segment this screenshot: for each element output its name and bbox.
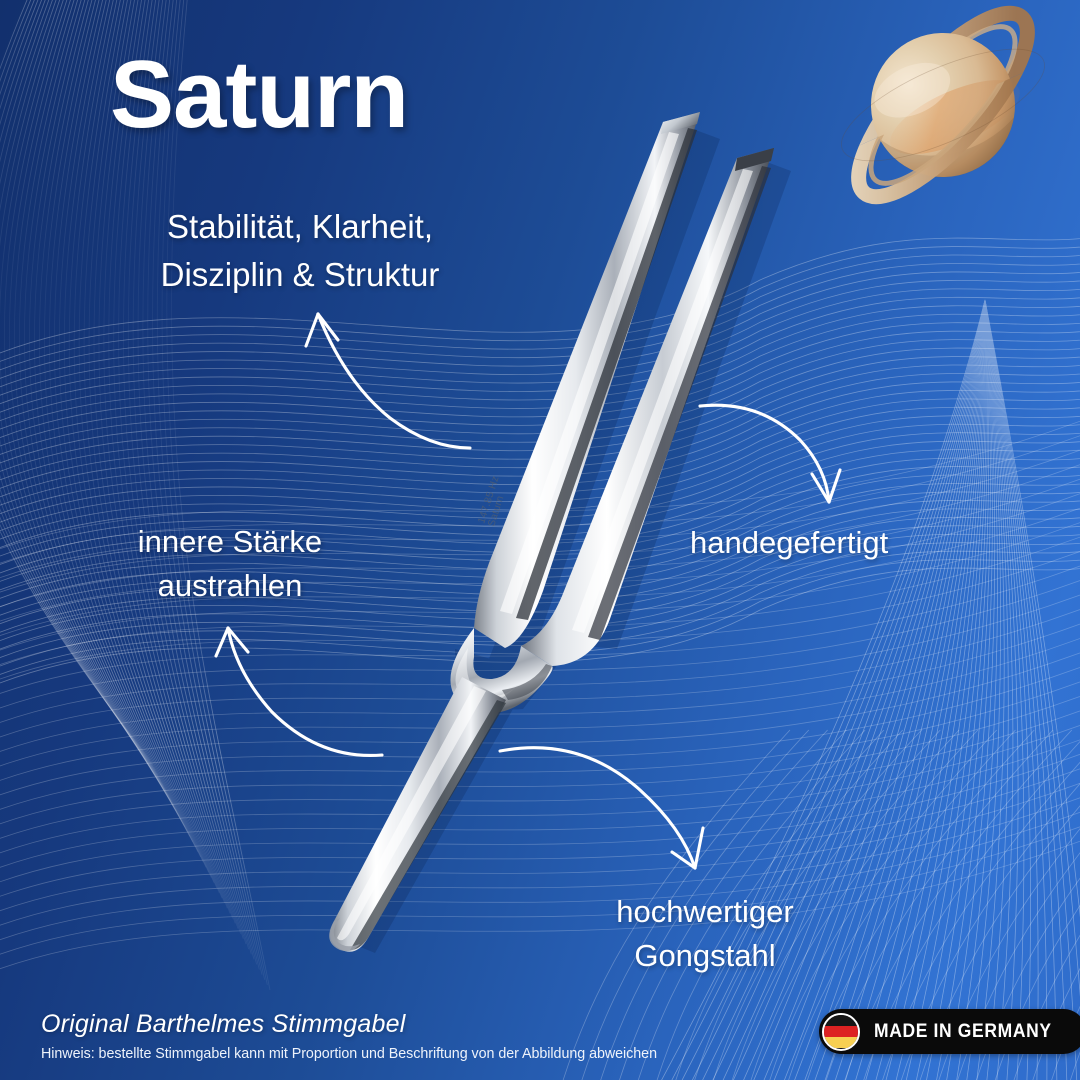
fork-tine-left (474, 112, 700, 648)
brand-line: Original Barthelmes Stimmgabel (41, 1010, 405, 1039)
made-in-germany-label: MADE IN GERMANY (874, 1021, 1052, 1043)
arrow-to-inner-strength (216, 628, 382, 755)
disclaimer-note: Hinweis: bestellte Stimmgabel kann mit P… (41, 1046, 657, 1062)
callout-gong-steel-line-2: Gongstahl (560, 934, 850, 978)
arrow-to-subtitle (306, 314, 470, 448)
subtitle-line-1: Stabilität, Klarheit, (60, 203, 540, 251)
page-title: Saturn (110, 47, 408, 143)
callout-inner-strength-line-1: innere Stärke (60, 520, 400, 564)
callout-gong-steel: hochwertiger Gongstahl (560, 890, 850, 978)
subtitle-line-2: Disziplin & Struktur (60, 251, 540, 299)
german-flag-icon (822, 1013, 860, 1051)
product-graphic-canvas: 147.85 Hz Saturn (0, 0, 1080, 1080)
callout-inner-strength: innere Stärke austrahlen (60, 520, 400, 608)
callout-gong-steel-line-1: hochwertiger (560, 890, 850, 934)
svg-text:Saturn: Saturn (486, 494, 506, 528)
arrow-to-gong-steel (500, 748, 703, 868)
arrow-to-handmade (700, 405, 840, 502)
fork-handle (329, 677, 506, 952)
subtitle: Stabilität, Klarheit, Disziplin & Strukt… (60, 203, 540, 299)
fork-u-bend (450, 628, 552, 713)
callout-inner-strength-line-2: austrahlen (60, 564, 400, 608)
callout-handmade-line-1: handegefertigt (690, 521, 980, 565)
fork-engraving: 147.85 Hz Saturn (476, 475, 511, 528)
fork-tine-right (521, 148, 774, 666)
svg-text:147.85 Hz: 147.85 Hz (476, 475, 501, 525)
made-in-germany-badge: MADE IN GERMANY (819, 1009, 1080, 1054)
callout-handmade: handegefertigt (690, 521, 980, 565)
